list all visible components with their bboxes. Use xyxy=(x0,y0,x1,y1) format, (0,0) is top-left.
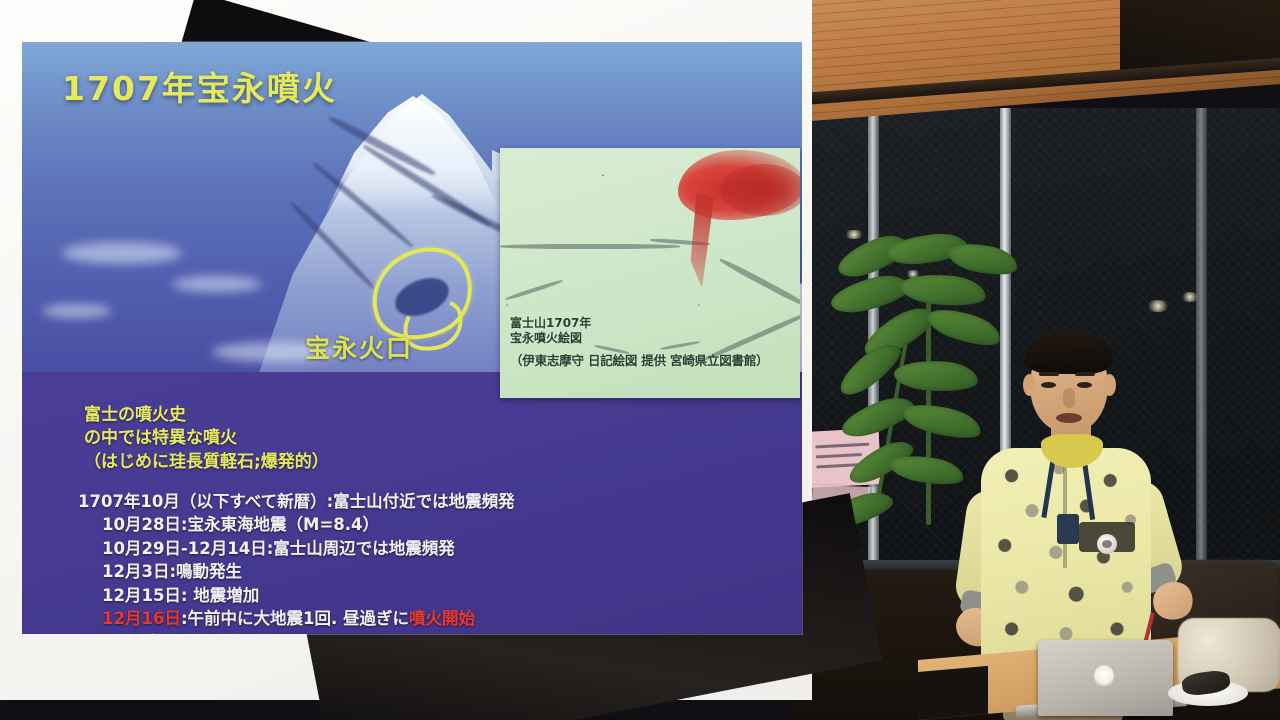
lanyard-badge xyxy=(1057,514,1079,544)
apple-logo-icon xyxy=(1094,665,1114,687)
presenter-mouth xyxy=(1056,413,1082,423)
presenter-brow-left xyxy=(1039,372,1059,376)
fuji-snow-cap xyxy=(308,96,518,214)
slide-summary-block: 富士の噴火史 の中では特異な噴火 （はじめに珪長質軽石;爆発的） xyxy=(84,404,329,474)
chronology-red-event: 噴火開始 xyxy=(409,609,475,628)
chronology-red-date: 12月16日 xyxy=(102,609,181,628)
painting-caption: 富士山1707年 宝永噴火絵図 （伊東志摩守 日記絵図 提供 宮崎県立図書館） xyxy=(510,316,768,369)
window-light-reflection-1 xyxy=(1145,300,1171,312)
presenter-hair xyxy=(1025,330,1113,374)
table-shadow xyxy=(918,666,988,720)
cloud xyxy=(172,276,262,292)
presenter-ear-right xyxy=(1103,374,1116,396)
chronology-row: 10月29日-12月14日:富士山周辺では地震頻発 xyxy=(78,537,515,560)
slide-chronology-block: 1707年10月（以下すべて新暦）:富士山付近では地震頻発 10月28日:宝永東… xyxy=(78,490,515,634)
cloud xyxy=(62,242,182,264)
painting-ink-stroke xyxy=(718,257,800,309)
cloud xyxy=(42,304,112,318)
summary-line-2: の中では特異な噴火 xyxy=(84,427,329,450)
chronology-row: 1707年10月（以下すべて新暦）:富士山付近では地震頻発 xyxy=(78,490,515,513)
hoei-crater-label: 宝永火口 xyxy=(305,329,413,365)
caption-line-1: 富士山1707年 xyxy=(510,316,768,331)
caption-line-2: 宝永噴火絵図 xyxy=(510,331,768,346)
presenter-brow-right xyxy=(1075,372,1095,376)
chronology-row: 12月3日:鳴動発生 xyxy=(78,560,515,583)
projected-slide: 宝永火口 富士山1707年 宝永噴火絵図 （伊東志摩守 日記絵図 提供 宮崎県立… xyxy=(22,42,802,634)
window-light-reflection-2 xyxy=(1180,292,1200,302)
presenter-nose xyxy=(1063,388,1075,408)
chronology-row-highlight: 12月16日:午前中に大地震1回. 昼過ぎに噴火開始 xyxy=(78,607,515,630)
historical-painting-inset: 富士山1707年 宝永噴火絵図 （伊東志摩守 日記絵図 提供 宮崎県立図書館） xyxy=(500,148,800,398)
painting-ink-stroke xyxy=(500,244,680,249)
summary-line-1: 富士の噴火史 xyxy=(84,404,329,427)
slide-title: 1707年宝永噴火 xyxy=(62,62,337,110)
plant-leaf xyxy=(899,271,988,310)
eruption-plume-red-upper xyxy=(720,164,800,216)
chronology-white-mid: :午前中に大地震1回. 昼過ぎに xyxy=(181,609,409,628)
chronology-row: 12月15日: 地震増加 xyxy=(78,584,515,607)
round-pin-badge xyxy=(1097,534,1117,554)
caption-line-3: （伊東志摩守 日記絵図 提供 宮崎県立図書館） xyxy=(510,353,768,369)
chronology-row-highlight-end: 1708年1月1日:噴火終了 xyxy=(78,631,515,634)
chronology-row: 10月28日:宝永東海地震（M=8.4） xyxy=(78,513,515,536)
chronology-red-end: 1月1日:噴火終了 xyxy=(164,633,293,634)
presenter-ear-left xyxy=(1023,374,1036,396)
presenter-eye-left xyxy=(1041,382,1056,388)
summary-line-3: （はじめに珪長質軽石;爆発的） xyxy=(84,451,329,474)
chronology-white-year: 1708年 xyxy=(102,633,164,634)
screenshot-root: 宝永火口 富士山1707年 宝永噴火絵図 （伊東志摩守 日記絵図 提供 宮崎県立… xyxy=(0,0,1280,720)
presenter-eye-right xyxy=(1077,382,1092,388)
plant-leaf xyxy=(828,270,913,318)
